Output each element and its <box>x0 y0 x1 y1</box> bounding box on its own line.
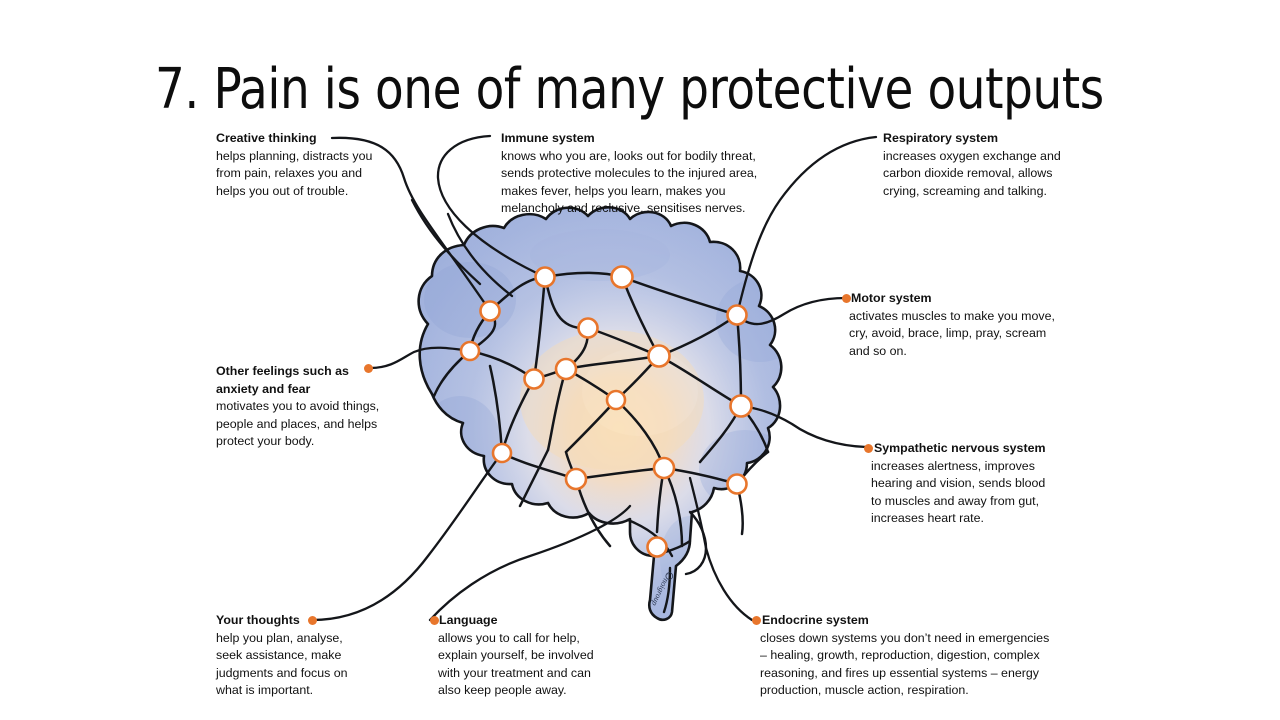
network-node <box>556 359 576 379</box>
callout-heading: Sympathetic nervous system <box>874 440 1074 458</box>
signature-text: noigroup <box>650 577 670 607</box>
callout-heading: Endocrine system <box>762 612 1062 630</box>
callout-body: helps planning, distracts you from pain,… <box>216 148 391 201</box>
callout-heading: Your thoughts <box>216 612 396 630</box>
artist-signature: noigroup c <box>650 570 674 607</box>
callout-body: closes down systems you don’t need in em… <box>760 630 1062 700</box>
network-node <box>728 306 747 325</box>
callout-dot-language <box>430 616 439 625</box>
callout-dot-endocrine <box>752 616 761 625</box>
callout-dot-motor-system <box>842 294 851 303</box>
callout-body: help you plan, analyse, seek assistance,… <box>216 630 396 700</box>
callout-heading: Immune system <box>501 130 791 148</box>
callout-body: activates muscles to make you move, cry,… <box>849 308 1066 361</box>
network-node <box>649 346 670 367</box>
network-node <box>525 370 544 389</box>
callout-body: increases alertness, improves hearing an… <box>871 458 1074 528</box>
brain-body <box>400 200 820 640</box>
network-node <box>648 538 667 557</box>
callout-sympathetic-nervous-system: Sympathetic nervous system increases ale… <box>874 440 1074 528</box>
svg-text:c: c <box>666 573 671 577</box>
callout-endocrine-system: Endocrine system closes down systems you… <box>762 612 1062 700</box>
callout-body: knows who you are, looks out for bodily … <box>501 148 791 218</box>
callout-heading: Motor system <box>851 290 1066 308</box>
callout-dot-your-thoughts <box>308 616 317 625</box>
brain-inner-contours <box>628 512 706 612</box>
callout-heading: Language <box>439 612 619 630</box>
network-node <box>536 268 555 287</box>
callout-dot-other-feelings <box>364 364 373 373</box>
network-node <box>481 302 500 321</box>
network-node <box>612 267 633 288</box>
network-node <box>461 342 479 360</box>
page-title: 7. Pain is one of many protective output… <box>155 58 1085 122</box>
brain-outline <box>419 207 782 620</box>
callout-heading: Respiratory system <box>883 130 1083 148</box>
callout-your-thoughts: Your thoughts help you plan, analyse, se… <box>216 612 396 700</box>
brain-network-edges <box>434 273 768 546</box>
network-node <box>566 469 586 489</box>
slide-canvas: 7. Pain is one of many protective output… <box>0 0 1280 720</box>
network-node <box>579 319 598 338</box>
callout-motor-system: Motor system activates muscles to make y… <box>851 290 1066 360</box>
callout-respiratory-system: Respiratory system increases oxygen exch… <box>883 130 1083 200</box>
network-node <box>654 458 674 478</box>
callout-heading: Creative thinking <box>216 130 391 148</box>
network-node <box>728 475 747 494</box>
callout-language: Language allows you to call for help, ex… <box>439 612 619 700</box>
callout-body: increases oxygen exchange and carbon dio… <box>883 148 1083 201</box>
callout-immune-system: Immune system knows who you are, looks o… <box>501 130 791 218</box>
network-node <box>493 444 511 462</box>
callout-creative-thinking: Creative thinking helps planning, distra… <box>216 130 391 200</box>
network-node <box>731 396 752 417</box>
brain-network-nodes <box>461 267 752 557</box>
network-node <box>607 391 625 409</box>
callout-other-feelings: Other feelings such as anxiety and fear … <box>216 363 396 451</box>
callout-dot-sympathetic <box>864 444 873 453</box>
callout-body: motivates you to avoid things, people an… <box>216 398 396 451</box>
callout-body: allows you to call for help, explain you… <box>438 630 619 700</box>
